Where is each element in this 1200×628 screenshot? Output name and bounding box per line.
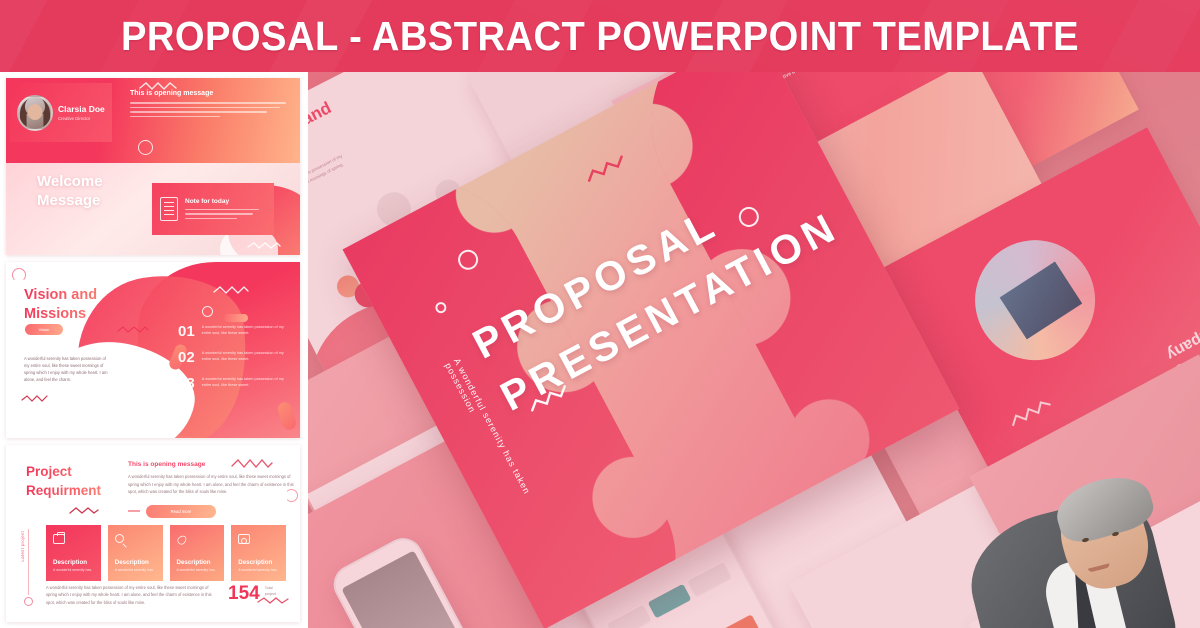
- arc-decoration-icon: [12, 268, 26, 282]
- slide1-text-lines: [130, 102, 286, 117]
- list-item-text: A wonderful serenity has taken possessio…: [202, 376, 288, 389]
- card-title: Description: [115, 559, 156, 566]
- note-card: Note for today: [152, 183, 274, 235]
- slide-thumbnail-welcome[interactable]: Clarsia Doe Creative Director This is op…: [6, 78, 300, 255]
- description-card[interactable]: Description A wonderful serenity has.: [46, 525, 101, 581]
- wave-decoration-icon: [230, 457, 274, 470]
- page-title: PROPOSAL - ABSTRACT POWERPOINT TEMPLATE: [42, 0, 1158, 72]
- note-heading: Note for today: [185, 198, 259, 205]
- description-card[interactable]: Description A wonderful serenity has.: [231, 525, 286, 581]
- wave-decoration-icon: [116, 324, 150, 335]
- list-item-number: 03: [178, 376, 195, 391]
- side-label-line: [28, 529, 29, 595]
- read-more-button[interactable]: Read more: [146, 505, 216, 518]
- card-subtitle: A wonderful serenity has.: [115, 568, 156, 572]
- profile-card: Clarsia Doe Creative Director: [10, 83, 112, 142]
- description-card[interactable]: Description A wonderful serenity has.: [108, 525, 163, 581]
- welcome-title: WelcomeMessage: [37, 173, 103, 211]
- card-title: Description: [53, 559, 94, 566]
- list-item: 03 A wonderful serenity has taken posses…: [178, 376, 288, 391]
- side-label: Latest project: [20, 531, 26, 562]
- slide-thumbnail-project[interactable]: ProjectRequirment This is opening messag…: [6, 445, 300, 622]
- slide2-body-text: A wonderful serenity has taken possessio…: [24, 355, 112, 384]
- wave-decoration-icon: [256, 595, 290, 606]
- header-banner: PROPOSAL - ABSTRACT POWERPOINT TEMPLATE: [0, 0, 1200, 72]
- image-icon: [238, 534, 250, 544]
- slide3-footer-text: A wonderful serenity has taken possessio…: [46, 584, 212, 606]
- list-item-text: A wonderful serenity has taken possessio…: [202, 350, 288, 363]
- description-card-list: Description A wonderful serenity has. De…: [46, 525, 286, 581]
- circle-decoration-icon: [202, 306, 213, 317]
- card-title: Description: [238, 559, 279, 566]
- slide3-title: ProjectRequirment: [26, 463, 101, 499]
- search-icon: [115, 534, 124, 543]
- mockup-scene: Planning andStrategy A wonderful serenit…: [308, 72, 1200, 628]
- profile-role: Creative Director: [58, 116, 105, 121]
- card-subtitle: A wonderful serenity has.: [238, 568, 279, 572]
- wave-decoration-icon: [582, 150, 630, 186]
- slide-thumbnail-column: Clarsia Doe Creative Director This is op…: [0, 72, 308, 628]
- list-item: 01 A wonderful serenity has taken posses…: [178, 324, 288, 339]
- vision-pill-button[interactable]: Vision: [25, 324, 63, 335]
- list-item: 02 A wonderful serenity has taken posses…: [178, 350, 288, 365]
- button-leader-line: [128, 510, 140, 511]
- note-text-lines: [185, 209, 259, 220]
- promo-banner-canvas: PROPOSAL - ABSTRACT POWERPOINT TEMPLATE …: [0, 0, 1200, 628]
- wave-decoration-icon: [212, 284, 250, 296]
- card-subtitle: A wonderful serenity has.: [53, 568, 94, 572]
- wave-decoration-icon: [68, 505, 100, 516]
- slide2-title: Vision andMissions: [24, 286, 97, 325]
- description-card[interactable]: Description A wonderful serenity has.: [170, 525, 225, 581]
- numbered-list: 01 A wonderful serenity has taken posses…: [178, 324, 288, 391]
- avatar: [17, 95, 53, 131]
- document-icon: [160, 197, 178, 221]
- slide-thumbnail-vision[interactable]: Vision andMissions Vision A wonderful se…: [6, 262, 300, 439]
- list-item-number: 01: [178, 324, 195, 339]
- opening-message-heading: This is opening message: [130, 90, 213, 97]
- wave-decoration-icon: [246, 240, 282, 251]
- drop-icon: [177, 534, 187, 546]
- list-item-number: 02: [178, 350, 195, 365]
- stat-number: 154: [228, 584, 260, 603]
- circle-decoration-icon: [138, 140, 153, 155]
- card-subtitle: A wonderful serenity has.: [177, 568, 218, 572]
- profile-name: Clarsia Doe: [58, 104, 105, 115]
- list-item-text: A wonderful serenity has taken possessio…: [202, 324, 288, 337]
- opening-message-heading: This is opening message: [128, 461, 205, 468]
- card-title: Description: [177, 559, 218, 566]
- slide2-pill-tag: [224, 314, 248, 322]
- businessman-photo: [970, 470, 1190, 628]
- wave-decoration-icon: [20, 394, 50, 404]
- slide3-body-text: A wonderful serenity has taken possessio…: [128, 473, 294, 495]
- briefcase-icon: [53, 534, 65, 544]
